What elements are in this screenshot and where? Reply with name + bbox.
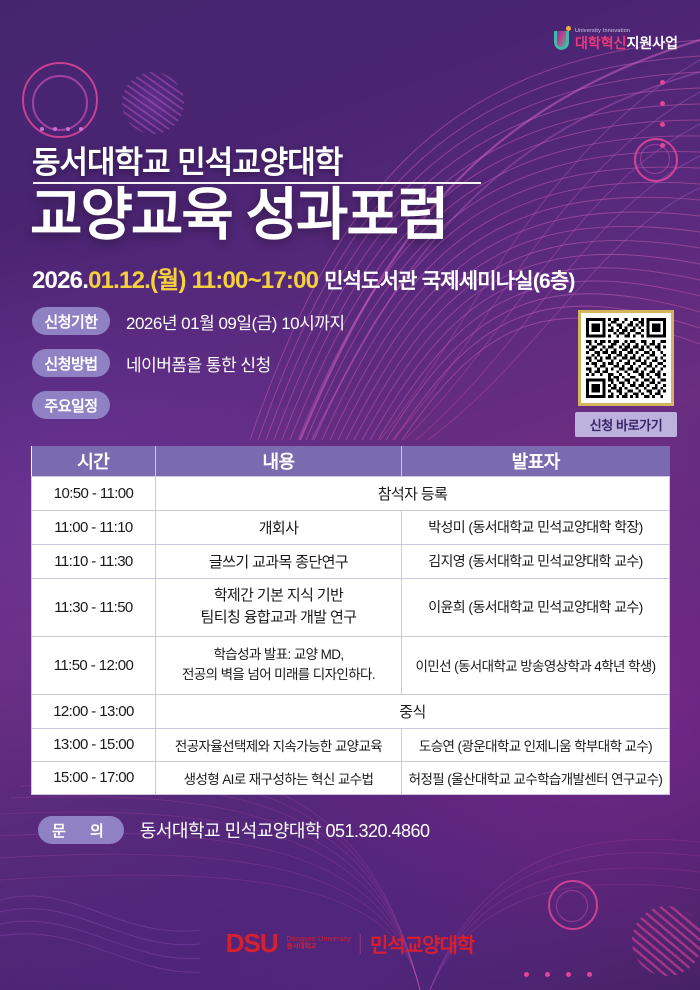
dot-row-bottom-3: [566, 972, 571, 977]
ui-logo-korean-b: 지원사업: [626, 35, 678, 51]
table-row: 10:50 - 11:00 참석자 등록: [32, 476, 670, 510]
table-row: 11:00 - 11:10 개회사 박성미 (동서대학교 민석교양대학 학장): [32, 510, 670, 544]
cell-time: 11:50 - 12:00: [32, 636, 156, 694]
cell-time: 12:00 - 13:00: [32, 694, 156, 728]
cell-speaker: 도승연 (광운대학교 인제니움 학부대학 교수): [402, 728, 670, 761]
cell-time: 15:00 - 17:00: [32, 761, 156, 794]
dot-row-bottom-1: [524, 972, 529, 977]
table-row: 11:10 - 11:30 글쓰기 교과목 종단연구 김지영 (동서대학교 민석…: [32, 544, 670, 578]
footer-logo: DSU Dongseo University 동서대학교 민석교양대학: [226, 928, 475, 959]
cell-speaker: 이민선 (동서대학교 방송영상학과 4학년 학생): [402, 636, 670, 694]
date-prefix: 2026.: [32, 267, 88, 294]
info-label-schedule: 주요일정: [32, 391, 110, 419]
cell-content-full: 중식: [156, 694, 670, 728]
dot-column-right-1: [660, 80, 665, 85]
dot-column-right-2: [660, 101, 665, 106]
event-datetime-line: 2026.01.12.(월) 11:00~17:00 민석도서관 국제세미나실(…: [32, 260, 575, 295]
cell-speaker: 허정필 (울산대학교 교수학습개발센터 연구교수): [402, 761, 670, 794]
column-header-content: 내용: [156, 446, 402, 476]
table-row: 13:00 - 15:00 전공자율선택제와 지속가능한 교양교육 도승연 (광…: [32, 728, 670, 761]
footer-divider: [360, 934, 361, 954]
college-name: 민석교양대학: [370, 929, 474, 958]
ui-logo-english: University Innovation: [575, 29, 678, 35]
dot-row-left-4: [79, 127, 83, 131]
cell-content: 개회사: [156, 510, 402, 544]
event-place: 민석도서관 국제세미나실(6층): [324, 270, 575, 293]
table-row: 12:00 - 13:00 중식: [32, 694, 670, 728]
page-title: 교양교육 성과포럼: [30, 186, 447, 246]
contact-label: 문 의: [38, 816, 124, 844]
cell-time: 11:10 - 11:30: [32, 544, 156, 578]
column-header-speaker: 발표자: [402, 446, 670, 476]
qr-code-svg: [586, 318, 666, 398]
info-row-schedule: 주요일정: [32, 391, 345, 419]
cell-speaker: 박성미 (동서대학교 민석교양대학 학장): [402, 510, 670, 544]
info-rows: 신청기한 2026년 01월 09일(금) 10시까지 신청방법 네이버폼을 통…: [32, 307, 345, 433]
dot-row-left: [40, 127, 44, 131]
cell-content: 생성형 AI로 재구성하는 혁신 교수법: [156, 761, 402, 794]
hatched-circle-decoration: [122, 72, 184, 134]
cell-speaker: 이윤희 (동서대학교 민석교양대학 교수): [402, 578, 670, 636]
cell-content-full: 참석자 등록: [156, 476, 670, 510]
table-row: 11:50 - 12:00 학습성과 발표: 교양 MD, 전공의 벽을 넘어 …: [32, 636, 670, 694]
table-row: 15:00 - 17:00 생성형 AI로 재구성하는 혁신 교수법 허정필 (…: [32, 761, 670, 794]
dot-row-left-3: [66, 127, 70, 131]
info-row-deadline: 신청기한 2026년 01월 09일(금) 10시까지: [32, 307, 345, 335]
cell-time: 13:00 - 15:00: [32, 728, 156, 761]
ui-logo-korean-a: 대학혁신: [575, 35, 627, 51]
cell-content: 전공자율선택제와 지속가능한 교양교육: [156, 728, 402, 761]
dsu-wordmark: DSU: [226, 928, 278, 959]
u-mark-icon: [554, 26, 571, 50]
ring-decoration-2: [32, 75, 88, 131]
info-value-deadline: 2026년 01월 09일(금) 10시까지: [126, 309, 345, 334]
date-highlight: 01.12.(월) 11:00~17:00: [88, 267, 318, 294]
qr-caption[interactable]: 신청 바로가기: [575, 412, 677, 437]
qr-code-icon[interactable]: [578, 310, 674, 406]
dot-row-bottom-2: [545, 972, 550, 977]
table-header-row: 시간 내용 발표자: [32, 446, 670, 476]
info-label-method: 신청방법: [32, 349, 110, 377]
cell-content: 학습성과 발표: 교양 MD, 전공의 벽을 넘어 미래를 디자인하다.: [156, 636, 402, 694]
ring-decoration-6: [556, 890, 588, 922]
qr-block[interactable]: 신청 바로가기: [578, 310, 678, 437]
cell-content: 학제간 기본 지식 기반 팀티칭 융합교과 개발 연구: [156, 578, 402, 636]
schedule-table: 시간 내용 발표자 10:50 - 11:00 참석자 등록 11:00 - 1…: [31, 446, 670, 795]
university-innovation-logo: University Innovation 대학혁신지원사업: [554, 26, 678, 50]
cell-time: 11:30 - 11:50: [32, 578, 156, 636]
table-row: 11:30 - 11:50 학제간 기본 지식 기반 팀티칭 융합교과 개발 연…: [32, 578, 670, 636]
dot-column-right-3: [660, 122, 665, 127]
column-header-time: 시간: [32, 446, 156, 476]
dot-row-bottom-4: [587, 972, 592, 977]
poster-subtitle: 동서대학교 민석교양대학: [32, 137, 342, 182]
cell-time: 11:00 - 11:10: [32, 510, 156, 544]
info-label-deadline: 신청기한: [32, 307, 110, 335]
ring-decoration-4: [640, 144, 670, 174]
cell-time: 10:50 - 11:00: [32, 476, 156, 510]
info-value-method: 네이버폼을 통한 신청: [126, 351, 271, 376]
contact-value: 동서대학교 민석교양대학 051.320.4860: [140, 817, 430, 843]
contact-row: 문 의 동서대학교 민석교양대학 051.320.4860: [38, 816, 430, 844]
cell-speaker: 김지영 (동서대학교 민석교양대학 교수): [402, 544, 670, 578]
event-poster: University Innovation 대학혁신지원사업 동서대학교 민석교…: [0, 0, 700, 990]
hatched-circle-decoration-2: [632, 906, 700, 976]
cell-content: 글쓰기 교과목 종단연구: [156, 544, 402, 578]
dot-row-left-2: [53, 127, 57, 131]
dsu-korean-name: 동서대학교: [287, 944, 351, 951]
info-row-method: 신청방법 네이버폼을 통한 신청: [32, 349, 345, 377]
